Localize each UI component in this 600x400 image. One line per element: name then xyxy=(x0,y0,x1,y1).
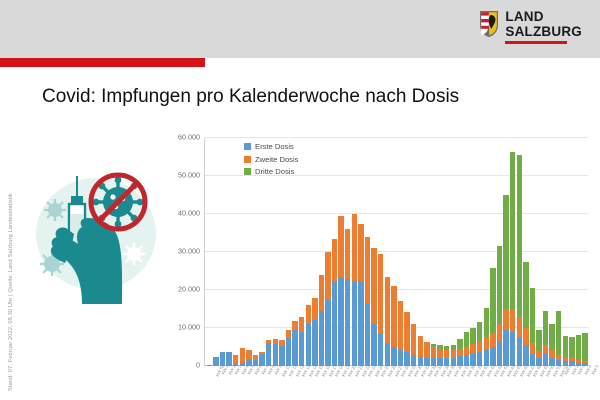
bar-segment-dritte-dosis xyxy=(582,333,587,362)
bar-segment-dritte-dosis xyxy=(464,332,469,346)
bar-column[interactable] xyxy=(298,138,305,366)
bar-segment-zweite-dosis xyxy=(398,301,403,350)
y-axis-tick-label: 0 xyxy=(196,361,200,370)
bar-segment-dritte-dosis xyxy=(510,152,515,310)
vaccination-bar-chart: 010.00020.00030.00040.00050.00060.000 KW… xyxy=(166,130,590,392)
bar-segment-erste-dosis xyxy=(207,365,212,366)
bar-column[interactable] xyxy=(457,138,464,366)
bar-segment-zweite-dosis xyxy=(503,309,508,330)
page-root: LAND SALZBURG Covid: Impfungen pro Kalen… xyxy=(0,0,600,400)
bar-column[interactable] xyxy=(377,138,384,366)
bar-segment-zweite-dosis xyxy=(431,347,436,358)
legend-label: Dritte Dosis xyxy=(255,167,294,176)
bar-segment-zweite-dosis xyxy=(510,310,515,332)
bar-column[interactable] xyxy=(437,138,444,366)
bar-segment-dritte-dosis xyxy=(530,288,535,343)
bar-segment-zweite-dosis xyxy=(437,349,442,358)
bar-segment-erste-dosis xyxy=(325,300,330,367)
bar-column[interactable] xyxy=(206,138,213,366)
bar-segment-dritte-dosis xyxy=(569,337,574,358)
bar-segment-zweite-dosis xyxy=(484,337,489,349)
bar-column[interactable] xyxy=(384,138,391,366)
bar-segment-erste-dosis xyxy=(279,346,284,366)
bar-segment-zweite-dosis xyxy=(319,275,324,311)
bar-segment-zweite-dosis xyxy=(523,328,528,345)
bar-segment-dritte-dosis xyxy=(543,311,548,345)
bar-column[interactable] xyxy=(509,138,516,366)
bar-segment-zweite-dosis xyxy=(378,254,383,334)
bar-column[interactable] xyxy=(219,138,226,366)
bar-segment-erste-dosis xyxy=(517,338,522,367)
bar-column[interactable] xyxy=(424,138,431,366)
bar-segment-zweite-dosis xyxy=(457,349,462,357)
bar-segment-zweite-dosis xyxy=(497,324,502,341)
bar-segment-zweite-dosis xyxy=(477,341,482,351)
bar-segment-dritte-dosis xyxy=(497,246,502,324)
bar-column[interactable] xyxy=(344,138,351,366)
header-red-rule xyxy=(0,58,205,67)
bar-segment-dritte-dosis xyxy=(563,336,568,357)
bar-segment-dritte-dosis xyxy=(457,339,462,349)
bar-segment-erste-dosis xyxy=(503,330,508,366)
bar-segment-zweite-dosis xyxy=(490,333,495,347)
bar-column[interactable] xyxy=(305,138,312,366)
bar-column[interactable] xyxy=(516,138,523,366)
bar-segment-zweite-dosis xyxy=(470,344,475,353)
logo-red-underline xyxy=(505,41,567,44)
bar-column[interactable] xyxy=(542,138,549,366)
bar-segment-zweite-dosis xyxy=(292,321,297,330)
bar-segment-zweite-dosis xyxy=(246,350,251,359)
logo-line-salzburg: SALZBURG xyxy=(505,25,582,39)
bar-segment-dritte-dosis xyxy=(484,308,489,337)
bar-segment-zweite-dosis xyxy=(451,350,456,358)
bar-segment-dritte-dosis xyxy=(490,268,495,333)
y-axis-tick-label: 10.000 xyxy=(178,323,200,332)
bar-segment-zweite-dosis xyxy=(444,350,449,358)
bar-column[interactable] xyxy=(569,138,576,366)
legend-item[interactable]: Zweite Dosis xyxy=(244,155,298,164)
bar-column[interactable] xyxy=(529,138,536,366)
hand-icon xyxy=(51,218,122,304)
legend-label: Erste Dosis xyxy=(255,142,294,151)
bar-column[interactable] xyxy=(213,138,220,366)
bar-column[interactable] xyxy=(351,138,358,366)
bar-column[interactable] xyxy=(430,138,437,366)
source-note: Stand: 07. Februar 2022, 08.30 Uhr | Que… xyxy=(8,193,14,391)
bar-segment-dritte-dosis xyxy=(549,324,554,351)
hand-holding-syringe-no-virus-illustration xyxy=(30,152,165,327)
bar-segment-erste-dosis xyxy=(332,282,337,366)
bar-segment-erste-dosis xyxy=(266,343,271,366)
bar-column[interactable] xyxy=(371,138,378,366)
bar-segment-zweite-dosis xyxy=(299,317,304,332)
bar-segment-erste-dosis xyxy=(358,282,363,366)
legend-item[interactable]: Dritte Dosis xyxy=(244,167,298,176)
y-axis-tick-label: 30.000 xyxy=(178,247,200,256)
bar-column[interactable] xyxy=(463,138,470,366)
bar-segment-zweite-dosis xyxy=(332,239,337,283)
bar-segment-dritte-dosis xyxy=(523,262,528,329)
bar-column[interactable] xyxy=(338,138,345,366)
bar-segment-erste-dosis xyxy=(306,324,311,366)
bar-segment-dritte-dosis xyxy=(517,155,522,317)
land-salzburg-logo: LAND SALZBURG xyxy=(479,10,582,44)
legend-swatch xyxy=(244,156,251,163)
bar-segment-erste-dosis xyxy=(273,344,278,366)
bar-segment-zweite-dosis xyxy=(306,305,311,324)
bar-segment-zweite-dosis xyxy=(352,214,357,281)
y-axis-tick-label: 40.000 xyxy=(178,209,200,218)
bar-segment-erste-dosis xyxy=(378,334,383,366)
bar-segment-zweite-dosis xyxy=(404,312,409,352)
bar-segment-zweite-dosis xyxy=(517,317,522,338)
bar-column[interactable] xyxy=(496,138,503,366)
bar-segment-zweite-dosis xyxy=(345,229,350,278)
bar-segment-zweite-dosis xyxy=(338,216,343,277)
bar-segment-erste-dosis xyxy=(286,338,291,367)
bar-segment-zweite-dosis xyxy=(411,324,416,354)
bar-segment-dritte-dosis xyxy=(536,330,541,351)
bar-segment-dritte-dosis xyxy=(576,335,581,360)
bar-segment-erste-dosis xyxy=(213,357,218,366)
bar-column[interactable] xyxy=(404,138,411,366)
chart-legend: Erste DosisZweite DosisDritte Dosis xyxy=(244,142,298,176)
salzburg-coat-of-arms-shield-icon xyxy=(479,10,499,38)
bar-column[interactable] xyxy=(549,138,556,366)
legend-item[interactable]: Erste Dosis xyxy=(244,142,298,151)
bar-segment-zweite-dosis xyxy=(325,252,330,300)
y-axis-tick-label: 50.000 xyxy=(178,171,200,180)
legend-swatch xyxy=(244,168,251,175)
bar-segment-dritte-dosis xyxy=(556,311,561,355)
bar-column[interactable] xyxy=(325,138,332,366)
bar-column[interactable] xyxy=(312,138,319,366)
bar-segment-dritte-dosis xyxy=(477,322,482,341)
bar-column[interactable] xyxy=(364,138,371,366)
bar-column[interactable] xyxy=(232,138,239,366)
bar-segment-zweite-dosis xyxy=(418,336,423,357)
bar-column[interactable] xyxy=(555,138,562,366)
bar-segment-zweite-dosis xyxy=(312,298,317,321)
bar-column[interactable] xyxy=(226,138,233,366)
y-axis-tick-label: 20.000 xyxy=(178,285,200,294)
bar-segment-zweite-dosis xyxy=(424,342,429,358)
legend-swatch xyxy=(244,143,251,150)
bar-column[interactable] xyxy=(450,138,457,366)
bar-column[interactable] xyxy=(417,138,424,366)
bar-column[interactable] xyxy=(536,138,543,366)
bar-column[interactable] xyxy=(523,138,530,366)
bar-column[interactable] xyxy=(397,138,404,366)
bar-segment-zweite-dosis xyxy=(358,224,363,283)
bar-segment-zweite-dosis xyxy=(240,348,245,363)
bar-segment-zweite-dosis xyxy=(464,347,469,355)
y-axis-tick-label: 60.000 xyxy=(178,133,200,142)
bar-column[interactable] xyxy=(575,138,582,366)
bar-segment-zweite-dosis xyxy=(391,286,396,347)
bar-column[interactable] xyxy=(391,138,398,366)
bar-segment-erste-dosis xyxy=(319,311,324,366)
bar-column[interactable] xyxy=(358,138,365,366)
bar-segment-zweite-dosis xyxy=(365,237,370,304)
bar-segment-erste-dosis xyxy=(365,303,370,366)
bar-segment-erste-dosis xyxy=(371,324,376,366)
logo-line-land: LAND xyxy=(505,10,543,24)
bar-segment-zweite-dosis xyxy=(530,343,535,354)
bar-segment-erste-dosis xyxy=(292,330,297,366)
bar-column[interactable] xyxy=(476,138,483,366)
logo-wordmark: LAND SALZBURG xyxy=(505,10,582,44)
page-title: Covid: Impfungen pro Kalenderwoche nach … xyxy=(42,86,582,108)
legend-label: Zweite Dosis xyxy=(255,155,298,164)
bar-column[interactable] xyxy=(443,138,450,366)
bar-segment-zweite-dosis xyxy=(543,345,548,354)
bar-segment-erste-dosis xyxy=(338,277,343,366)
bar-segment-erste-dosis xyxy=(497,341,502,366)
bar-column[interactable] xyxy=(490,138,497,366)
bar-column[interactable] xyxy=(503,138,510,366)
bar-column[interactable] xyxy=(582,138,589,366)
bar-column[interactable] xyxy=(410,138,417,366)
bar-segment-zweite-dosis xyxy=(371,248,376,324)
bar-column[interactable] xyxy=(562,138,569,366)
bar-segment-erste-dosis xyxy=(510,332,515,366)
bar-column[interactable] xyxy=(331,138,338,366)
bar-segment-zweite-dosis xyxy=(549,350,554,357)
bar-segment-erste-dosis xyxy=(352,281,357,367)
bar-column[interactable] xyxy=(483,138,490,366)
bar-segment-dritte-dosis xyxy=(470,328,475,344)
bar-segment-zweite-dosis xyxy=(385,277,390,344)
bar-segment-zweite-dosis xyxy=(536,351,541,358)
bar-column[interactable] xyxy=(470,138,477,366)
bar-segment-erste-dosis xyxy=(299,332,304,366)
bar-segment-erste-dosis xyxy=(312,320,317,366)
bar-segment-erste-dosis xyxy=(345,279,350,366)
bar-segment-zweite-dosis xyxy=(286,330,291,338)
prohibited-virus-icon xyxy=(91,175,145,229)
bar-segment-dritte-dosis xyxy=(503,195,508,309)
bar-segment-zweite-dosis xyxy=(233,355,238,363)
bar-column[interactable] xyxy=(318,138,325,366)
